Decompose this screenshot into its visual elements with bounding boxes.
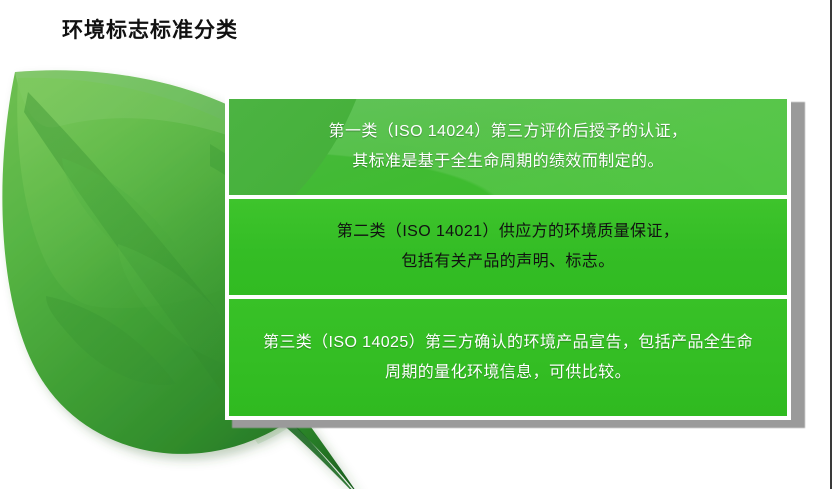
slide-canvas: 环境标志标准分类 第一类（ISO 14024）第三方评价后授予的认证， 其标准是… [0,0,832,489]
category-panel-3[interactable]: 第三类（ISO 14025）第三方确认的环境产品宣告，包括产品全生命 周期的量化… [229,299,787,416]
panel-stack: 第一类（ISO 14024）第三方评价后授予的认证， 其标准是基于全生命周期的绩… [225,95,791,420]
category-panel-2[interactable]: 第二类（ISO 14021）供应方的环境质量保证， 包括有关产品的声明、标志。 [229,199,787,295]
category-panel-2-text: 第二类（ISO 14021）供应方的环境质量保证， 包括有关产品的声明、标志。 [323,217,694,276]
category-panel-3-text: 第三类（ISO 14025）第三方确认的环境产品宣告，包括产品全生命 周期的量化… [249,328,767,387]
category-panel-1[interactable]: 第一类（ISO 14024）第三方评价后授予的认证， 其标准是基于全生命周期的绩… [229,99,787,195]
page-title: 环境标志标准分类 [62,18,238,43]
category-panel-1-text: 第一类（ISO 14024）第三方评价后授予的认证， 其标准是基于全生命周期的绩… [315,117,702,176]
